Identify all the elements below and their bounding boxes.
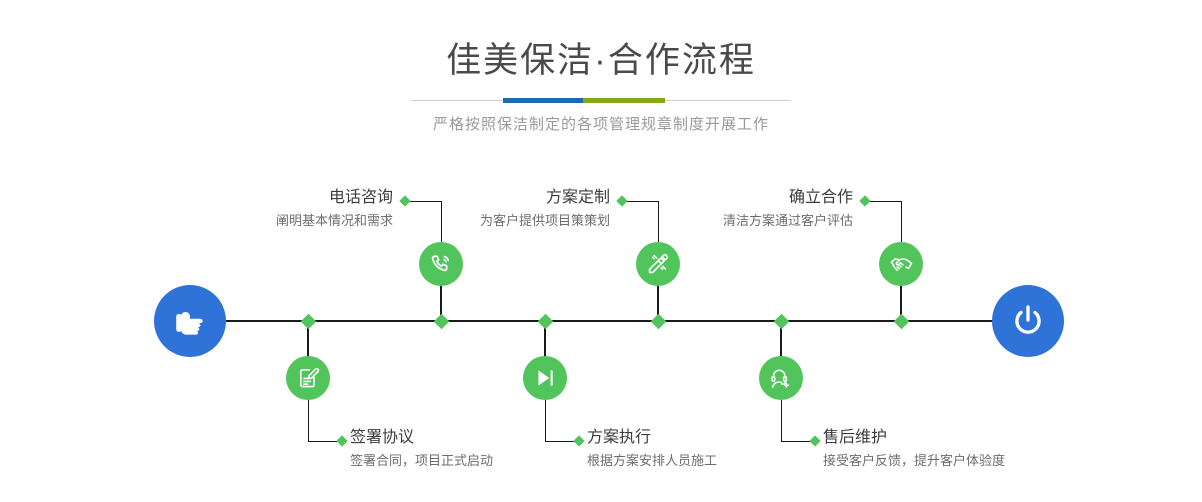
power-icon (1009, 302, 1047, 340)
axis-diamond (537, 313, 553, 329)
node-title: 售后维护 (823, 427, 1005, 449)
node-desc: 接受客户反馈，提升客户体验度 (823, 451, 1005, 471)
pencil-ruler-icon[interactable] (636, 242, 680, 286)
label-connector-v (781, 400, 782, 442)
node-desc: 清洁方案通过客户评估 (563, 211, 853, 231)
node-label-6: 售后维护 接受客户反馈，提升客户体验度 (823, 427, 1005, 471)
node-label-2: 签署协议 签署合同，项目正式启动 (350, 427, 493, 471)
axis-diamond (893, 313, 909, 329)
node-desc: 签署合同，项目正式启动 (350, 451, 493, 471)
headset-add-icon[interactable] (759, 356, 803, 400)
label-diamond (336, 435, 347, 446)
phone-call-icon[interactable] (419, 242, 463, 286)
play-skip-icon[interactable] (523, 356, 567, 400)
timeline-start-endpoint (154, 285, 226, 357)
node-label-4: 方案执行 根据方案安排人员施工 (587, 427, 717, 471)
label-diamond (809, 435, 820, 446)
label-connector-v (308, 400, 309, 442)
label-diamond (859, 195, 870, 206)
label-connector-v (545, 400, 546, 442)
label-connector-h (868, 201, 901, 202)
label-diamond (573, 435, 584, 446)
node-label-5: 确立合作 清洁方案通过客户评估 (563, 187, 853, 231)
node-title: 签署协议 (350, 427, 493, 449)
axis-diamond (300, 313, 316, 329)
node-title: 确立合作 (563, 187, 853, 209)
document-edit-icon[interactable] (286, 356, 330, 400)
handshake-icon[interactable] (879, 242, 923, 286)
process-timeline: 电话咨询 阐明基本情况和需求 签署协议 签署合同，项目正式启动 (0, 0, 1202, 502)
node-desc: 根据方案安排人员施工 (587, 451, 717, 471)
hand-pointing-icon (171, 302, 209, 340)
axis-diamond (650, 313, 666, 329)
label-connector-v (901, 201, 902, 242)
axis-diamond (433, 313, 449, 329)
timeline-end-endpoint (992, 285, 1064, 357)
node-title: 方案执行 (587, 427, 717, 449)
axis-diamond (773, 313, 789, 329)
timeline-axis (222, 320, 1000, 322)
